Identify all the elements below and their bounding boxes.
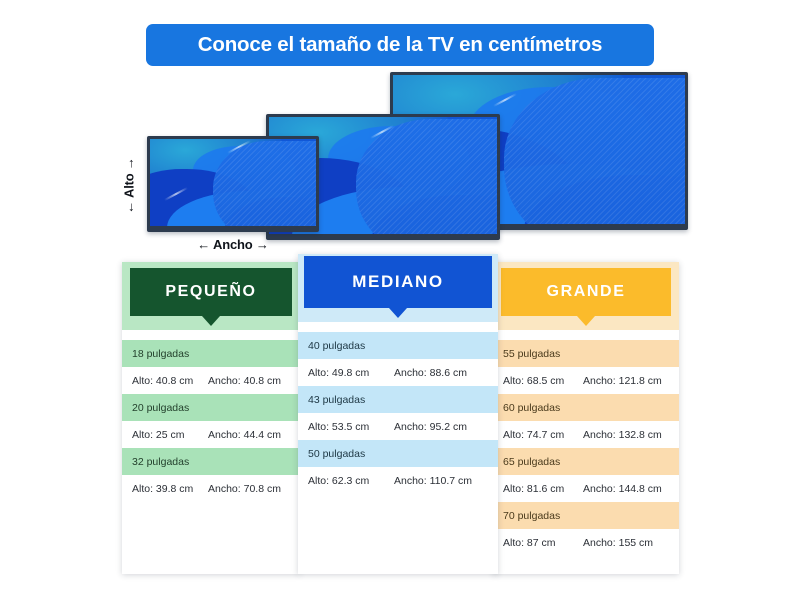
card-mediano-title: MEDIANO — [352, 272, 443, 292]
size-row: 55 pulgadas — [493, 340, 679, 367]
ancho-value: Ancho: 144.8 cm — [583, 483, 662, 495]
card-pequeno-banner: PEQUEÑO — [130, 268, 292, 316]
card-mediano-banner: MEDIANO — [304, 256, 492, 308]
alto-value: Alto: 68.5 cm — [503, 375, 583, 387]
dimension-row: Alto: 81.6 cm Ancho: 144.8 cm — [493, 475, 679, 502]
banner-notch-icon — [577, 316, 595, 326]
ancho-value: Ancho: 132.8 cm — [583, 429, 662, 441]
card-mediano-top-band: MEDIANO — [298, 254, 498, 322]
dimension-row: Alto: 62.3 cm Ancho: 110.7 cm — [298, 467, 498, 494]
ancho-value: Ancho: 70.8 cm — [208, 483, 281, 495]
card-grande-body: 55 pulgadas Alto: 68.5 cm Ancho: 121.8 c… — [493, 330, 679, 556]
banner-notch-icon — [389, 308, 407, 318]
ancho-value: Ancho: 110.7 cm — [394, 475, 472, 487]
alto-value: Alto: 87 cm — [503, 537, 583, 549]
alto-value: Alto: 74.7 cm — [503, 429, 583, 441]
size-row: 65 pulgadas — [493, 448, 679, 475]
screen-wave-decor — [524, 175, 685, 224]
alto-value: Alto: 53.5 cm — [308, 421, 394, 433]
screen-wave-decor — [372, 195, 497, 234]
card-pequeno-title: PEQUEÑO — [165, 283, 256, 301]
dimension-row: Alto: 53.5 cm Ancho: 95.2 cm — [298, 413, 498, 440]
card-pequeno-top-band: PEQUEÑO — [122, 262, 300, 330]
card-pequeno-body: 18 pulgadas Alto: 40.8 cm Ancho: 40.8 cm… — [122, 330, 300, 502]
body-spacer — [298, 322, 498, 332]
alto-dimension-label: ← Alto → — [118, 140, 140, 230]
size-row: 70 pulgadas — [493, 502, 679, 529]
card-grande-title: GRANDE — [547, 283, 626, 301]
dimension-row: Alto: 87 cm Ancho: 155 cm — [493, 529, 679, 556]
alto-dimension-text: ← Alto → — [122, 157, 137, 213]
card-mediano: MEDIANO 40 pulgadas Alto: 49.8 cm Ancho:… — [298, 254, 498, 574]
ancho-value: Ancho: 155 cm — [583, 537, 653, 549]
banner-notch-icon — [202, 316, 220, 326]
tv-small — [147, 136, 319, 232]
ancho-dimension-label: ← Ancho → — [147, 234, 319, 254]
size-row: 43 pulgadas — [298, 386, 498, 413]
alto-value: Alto: 49.8 cm — [308, 367, 394, 379]
alto-value: Alto: 40.8 cm — [132, 375, 208, 387]
card-grande-banner: GRANDE — [501, 268, 671, 316]
size-row: 60 pulgadas — [493, 394, 679, 421]
ancho-value: Ancho: 88.6 cm — [394, 367, 467, 379]
alto-value: Alto: 62.3 cm — [308, 475, 394, 487]
body-spacer — [493, 330, 679, 340]
alto-value: Alto: 39.8 cm — [132, 483, 208, 495]
dimension-row: Alto: 49.8 cm Ancho: 88.6 cm — [298, 359, 498, 386]
ancho-value: Ancho: 40.8 cm — [208, 375, 281, 387]
alto-value: Alto: 81.6 cm — [503, 483, 583, 495]
card-grande-top-band: GRANDE — [493, 262, 679, 330]
alto-value: Alto: 25 cm — [132, 429, 208, 441]
dimension-row: Alto: 40.8 cm Ancho: 40.8 cm — [122, 367, 300, 394]
ancho-value: Ancho: 95.2 cm — [394, 421, 467, 433]
ancho-value: Ancho: 121.8 cm — [583, 375, 662, 387]
size-row: 18 pulgadas — [122, 340, 300, 367]
dimension-row: Alto: 74.7 cm Ancho: 132.8 cm — [493, 421, 679, 448]
size-row: 50 pulgadas — [298, 440, 498, 467]
card-pequeno: PEQUEÑO 18 pulgadas Alto: 40.8 cm Ancho:… — [122, 262, 300, 574]
size-row: 40 pulgadas — [298, 332, 498, 359]
dimension-row: Alto: 39.8 cm Ancho: 70.8 cm — [122, 475, 300, 502]
tv-small-screen — [150, 139, 316, 226]
dimension-row: Alto: 25 cm Ancho: 44.4 cm — [122, 421, 300, 448]
ancho-value: Ancho: 44.4 cm — [208, 429, 281, 441]
body-spacer — [122, 330, 300, 340]
size-row: 20 pulgadas — [122, 394, 300, 421]
screen-wave-decor — [225, 197, 316, 226]
dimension-row: Alto: 68.5 cm Ancho: 121.8 cm — [493, 367, 679, 394]
size-row: 32 pulgadas — [122, 448, 300, 475]
infographic-canvas: Conoce el tamaño de la TV en centímetros — [0, 0, 800, 600]
card-mediano-body: 40 pulgadas Alto: 49.8 cm Ancho: 88.6 cm… — [298, 322, 498, 494]
card-grande: GRANDE 55 pulgadas Alto: 68.5 cm Ancho: … — [493, 262, 679, 574]
